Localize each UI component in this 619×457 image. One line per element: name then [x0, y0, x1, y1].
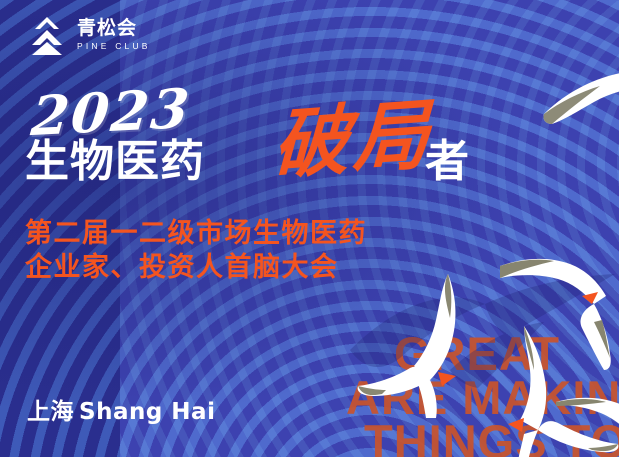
headline-tail: 者: [425, 138, 469, 186]
event-poster: GREAT ARE MAKING THINGS TO: [0, 0, 619, 457]
seagull-top-right: [540, 62, 619, 142]
subtitle-line-1: 第二届一二级市场生物医药: [25, 217, 367, 251]
headline-lead: 生物医药: [25, 138, 205, 186]
city-name-cn: 上海: [27, 399, 74, 425]
brand-logo[interactable]: 青松会 PINE CLUB: [26, 14, 151, 56]
pine-tree-chevron-icon: [26, 14, 68, 56]
subtitle-line-2: 企业家、投资人首脑大会: [25, 251, 367, 285]
brand-name-cn: 青松会: [77, 19, 151, 38]
brand-name-en: PINE CLUB: [77, 40, 151, 52]
headline-brush-accent: 破局: [272, 94, 434, 186]
event-subtitle: 第二届一二级市场生物医药 企业家、投资人首脑大会: [25, 217, 367, 285]
city-name-en: Shang Hai: [79, 399, 215, 425]
headline-group: 生物医药 破局 者: [25, 138, 205, 186]
event-city: 上海Shang Hai: [27, 392, 215, 426]
seagull-bottom-right: [556, 392, 619, 457]
